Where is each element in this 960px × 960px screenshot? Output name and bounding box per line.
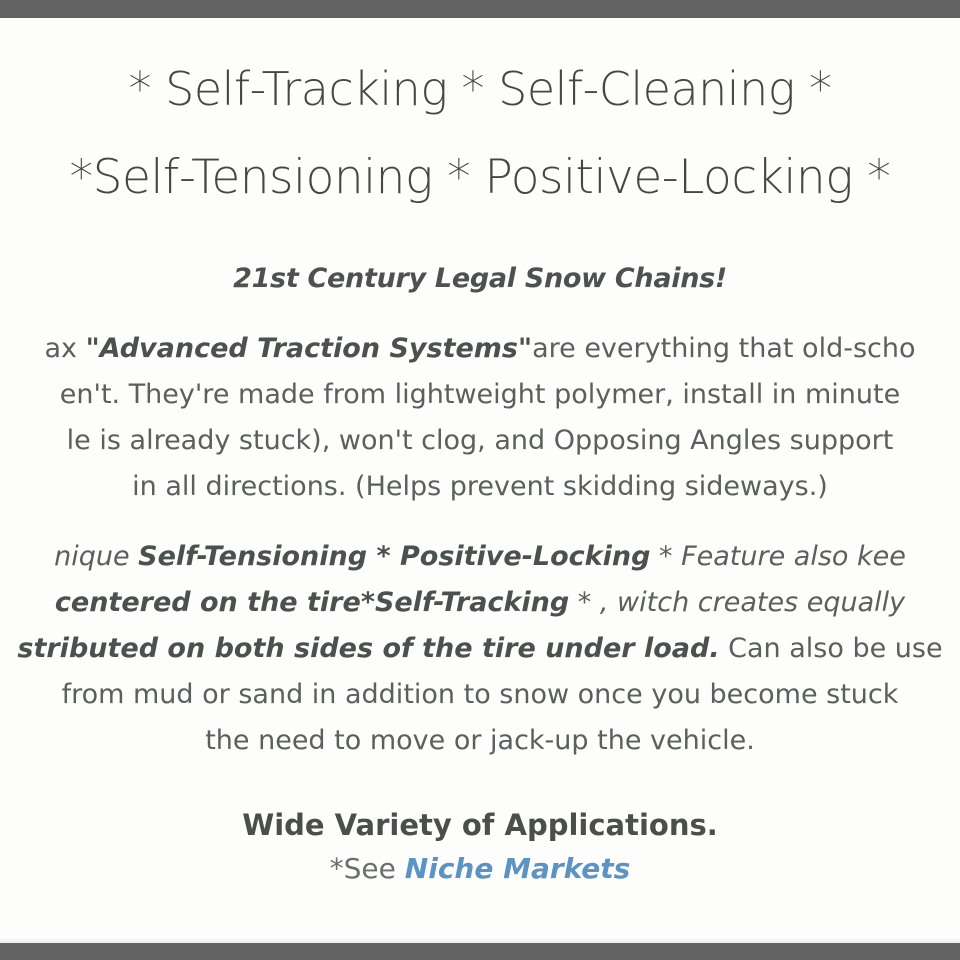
p2-l1-pre: nique <box>54 541 138 572</box>
paragraph-two-line-3: stributed on both sides of the tire unde… <box>0 626 960 672</box>
p2-l2-emphasis-1: centered on the tire <box>55 587 361 618</box>
paragraph-one-line-1: ax "Advanced Traction Systems"are everyt… <box>0 326 960 372</box>
paragraph-two: nique Self-Tensioning * Positive-Locking… <box>0 534 960 764</box>
p1-l1-emphasis: "Advanced Traction Systems" <box>86 333 532 364</box>
paragraph-two-line-5: the need to move or jack-up the vehicle. <box>0 718 960 764</box>
see-prefix-label: *See <box>330 852 405 885</box>
p2-l3-post: Can also be use <box>720 633 943 664</box>
p1-l1-pre: ax <box>44 333 85 364</box>
paragraph-two-line-1: nique Self-Tensioning * Positive-Locking… <box>0 534 960 580</box>
p2-l2-emphasis-2: Self-Tracking <box>375 587 569 618</box>
niche-markets-link[interactable]: Niche Markets <box>405 852 631 885</box>
paragraph-one: ax "Advanced Traction Systems"are everyt… <box>0 326 960 510</box>
p2-l2-star: * <box>361 587 375 618</box>
page-viewport: * Self-Tracking * Self-Cleaning * *Self-… <box>0 18 960 936</box>
screenshot-root: * Self-Tracking * Self-Cleaning * *Self-… <box>0 0 960 960</box>
page-content: * Self-Tracking * Self-Cleaning * *Self-… <box>0 18 960 885</box>
headline-line-2: *Self-Tensioning * Positive-Locking * <box>0 154 960 201</box>
p2-l1-emphasis: Self-Tensioning * Positive-Locking <box>138 541 650 572</box>
top-chrome-bar <box>0 0 960 18</box>
paragraph-one-line-2: en't. They're made from lightweight poly… <box>0 372 960 418</box>
p1-l1-post: are everything that old-scho <box>532 333 915 364</box>
paragraph-two-line-4: from mud or sand in addition to snow onc… <box>0 672 960 718</box>
p2-l2-post: * , witch creates equally <box>569 587 905 618</box>
paragraph-one-line-3: le is already stuck), won't clog, and Op… <box>0 418 960 464</box>
subheadline: 21st Century Legal Snow Chains! <box>0 263 960 294</box>
applications-heading: Wide Variety of Applications. <box>0 808 960 842</box>
headline-line-1: * Self-Tracking * Self-Cleaning * <box>0 66 960 112</box>
p2-l3-emphasis: stributed on both sides of the tire unde… <box>17 633 719 664</box>
bottom-chrome-bar <box>0 943 960 960</box>
paragraph-two-line-2: centered on the tire*Self-Tracking * , w… <box>0 580 960 626</box>
see-niche-markets-line: *See Niche Markets <box>0 852 960 885</box>
p2-l1-post: * Feature also kee <box>650 541 905 572</box>
page-bottom-seam <box>0 936 960 943</box>
paragraph-one-line-4: in all directions. (Helps prevent skiddi… <box>0 464 960 510</box>
